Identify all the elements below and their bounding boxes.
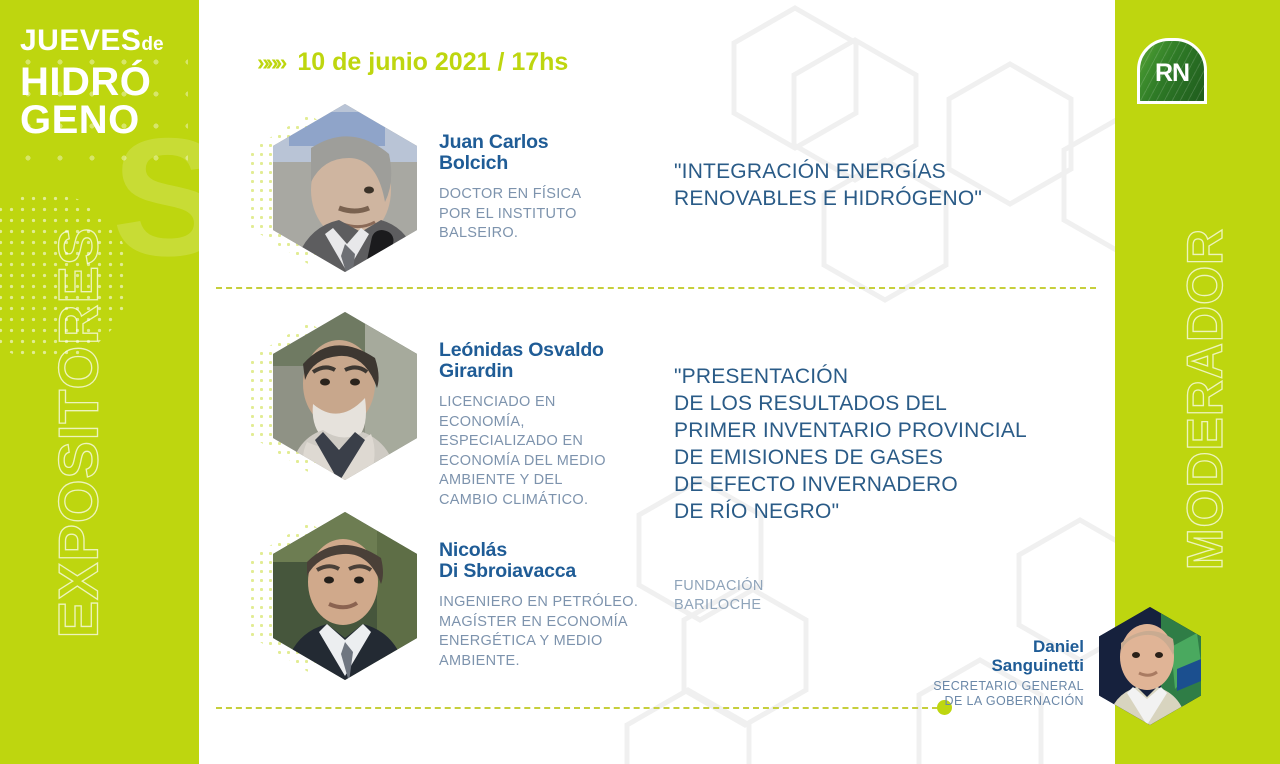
speaker-info-3: Nicolás Di Sbroiavacca INGENIERO EN PETR… xyxy=(439,512,654,671)
expositores-vertical-label: EXPOSITORES xyxy=(46,223,111,643)
speaker-card-2: Leónidas Osvaldo Girardin LICENCIADO EN … xyxy=(257,312,654,510)
logo-line-1-suffix: de xyxy=(141,34,163,55)
speaker-name-2: Leónidas Osvaldo Girardin xyxy=(439,340,654,382)
logo-line-2: HIDRÓ xyxy=(20,63,190,101)
logo-line-3: GENO xyxy=(20,101,190,139)
section-divider-1 xyxy=(216,287,1096,289)
speaker-card-1: Juan Carlos Bolcich DOCTOR EN FÍSICA POR… xyxy=(257,104,654,276)
logo-line-1: JUEVES xyxy=(20,24,141,57)
flyer-canvas: S JUEVESde HIDRÓ GENO EXPOSITORES RN MOD… xyxy=(0,0,1280,764)
event-logo: JUEVESde HIDRÓ GENO xyxy=(20,26,190,139)
talk-title-1: "INTEGRACIÓN ENERGÍAS RENOVABLES E HIDRÓ… xyxy=(674,158,1104,212)
speaker-name-1: Juan Carlos Bolcich xyxy=(439,132,654,174)
speaker-name-3: Nicolás Di Sbroiavacca xyxy=(439,540,654,582)
talk-title-2: "PRESENTACIÓN DE LOS RESULTADOS DEL PRIM… xyxy=(674,363,1119,525)
speaker-bio-1: DOCTOR EN FÍSICA POR EL INSTITUTO BALSEI… xyxy=(439,185,654,244)
moderator-role: SECRETARIO GENERAL DE LA GOBERNACIÓN xyxy=(824,679,1084,709)
speaker-photo-3 xyxy=(257,512,417,684)
decorative-s-mark: S xyxy=(112,122,199,272)
speaker-photo-1 xyxy=(257,104,417,276)
rio-negro-logo: RN xyxy=(1137,38,1207,104)
rn-logo-text: RN xyxy=(1140,59,1204,88)
moderator-name: Daniel Sanguinetti xyxy=(824,638,1084,675)
speaker-info-2: Leónidas Osvaldo Girardin LICENCIADO EN … xyxy=(439,312,654,510)
date-row: »»» 10 de junio 2021 / 17hs xyxy=(257,48,568,77)
left-green-band: S JUEVESde HIDRÓ GENO EXPOSITORES xyxy=(0,0,199,764)
event-date: 10 de junio 2021 / 17hs xyxy=(297,48,568,77)
speaker-card-3: Nicolás Di Sbroiavacca INGENIERO EN PETR… xyxy=(257,512,654,684)
speaker-photo-2 xyxy=(257,312,417,484)
chevrons-icon: »»» xyxy=(257,51,283,74)
speaker-info-1: Juan Carlos Bolcich DOCTOR EN FÍSICA POR… xyxy=(439,104,654,244)
speaker-bio-2: LICENCIADO EN ECONOMÍA, ESPECIALIZADO EN… xyxy=(439,393,654,510)
moderator-text: Daniel Sanguinetti SECRETARIO GENERAL DE… xyxy=(824,638,1084,709)
speaker-organization-3: FUNDACIÓN BARILOCHE xyxy=(674,577,894,615)
moderador-vertical-label: MODERADOR xyxy=(1176,189,1234,609)
speaker-bio-3: INGENIERO EN PETRÓLEO. MAGÍSTER EN ECONO… xyxy=(439,593,654,671)
